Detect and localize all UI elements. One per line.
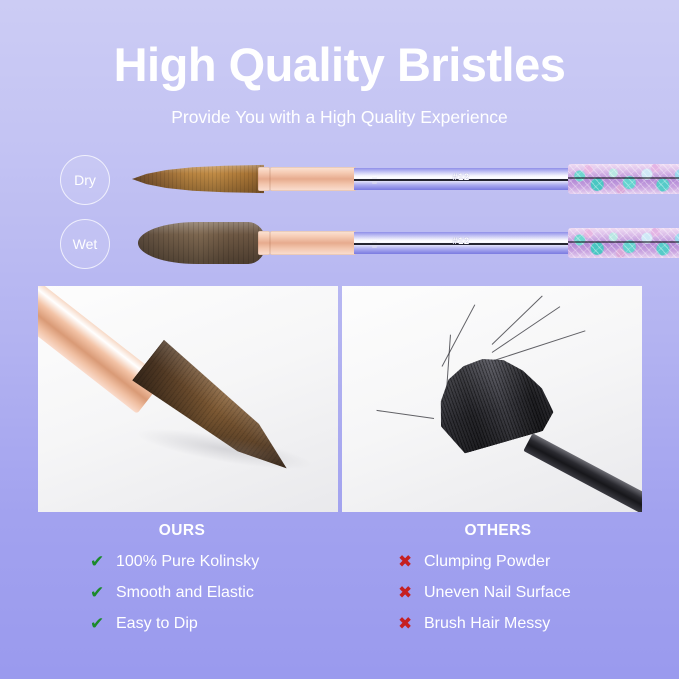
list-item-label: Easy to Dip [116,615,198,633]
list-item-label: Brush Hair Messy [424,615,550,633]
handle-barrel-wet: #12 [354,232,568,254]
list-item: ✖ Brush Hair Messy [398,608,679,639]
cross-icon: ✖ [398,553,424,570]
page-subtitle: Provide You with a High Quality Experien… [0,105,679,129]
brush-size-code-dry: #12 [354,172,568,183]
brush-illustration-wet: #12 [132,208,652,278]
glitter-sparkle [568,228,679,258]
comparison-list-others: ✖ Clumping Powder ✖ Uneven Nail Surface … [398,546,679,639]
comparison-list-ours: ✔ 100% Pure Kolinsky ✔ Smooth and Elasti… [90,546,390,639]
glitter-handle-wet [568,228,679,258]
bristle-tip-wet [138,222,266,264]
bristle-strands [132,164,264,194]
glitter-seam [568,177,679,179]
cross-icon: ✖ [398,584,424,601]
bristle-strands [138,222,266,264]
comparison-heading-ours: OURS [102,522,262,540]
ferrule-wet [270,231,356,255]
brush-illustration-dry: #12 [132,144,652,214]
glitter-sparkle [568,164,679,194]
bristle-tip-dry [132,164,264,194]
photo-panel-ours [38,286,338,512]
list-item-label: Clumping Powder [424,553,550,571]
ferrule-ring-wet [258,231,270,255]
brush-row-wet: Wet #12 [0,208,679,278]
page-title: High Quality Bristles [0,38,679,92]
badge-dry-label: Dry [74,172,96,188]
list-item-label: Uneven Nail Surface [424,584,571,602]
photo-panel-others [342,286,642,512]
ferrule-ring-dry [258,167,270,191]
check-icon: ✔ [90,615,116,632]
ferrule-dry [270,167,356,191]
glitter-seam [568,241,679,243]
list-item: ✔ 100% Pure Kolinsky [90,546,390,577]
badge-wet-label: Wet [73,236,98,252]
list-item-label: Smooth and Elastic [116,584,254,602]
cross-icon: ✖ [398,615,424,632]
badge-dry: Dry [60,155,110,205]
list-item: ✔ Smooth and Elastic [90,577,390,608]
list-item-label: 100% Pure Kolinsky [116,553,259,571]
handle-barrel-dry: #12 [354,168,568,190]
brush-row-dry: Dry #12 [0,144,679,214]
list-item: ✖ Clumping Powder [398,546,679,577]
check-icon: ✔ [90,553,116,570]
comparison-heading-others: OTHERS [418,522,578,540]
list-item: ✔ Easy to Dip [90,608,390,639]
badge-wet: Wet [60,219,110,269]
brush-size-code-wet: #12 [354,236,568,247]
infographic-root: High Quality Bristles Provide You with a… [0,0,679,679]
list-item: ✖ Uneven Nail Surface [398,577,679,608]
glitter-handle-dry [568,164,679,194]
check-icon: ✔ [90,584,116,601]
